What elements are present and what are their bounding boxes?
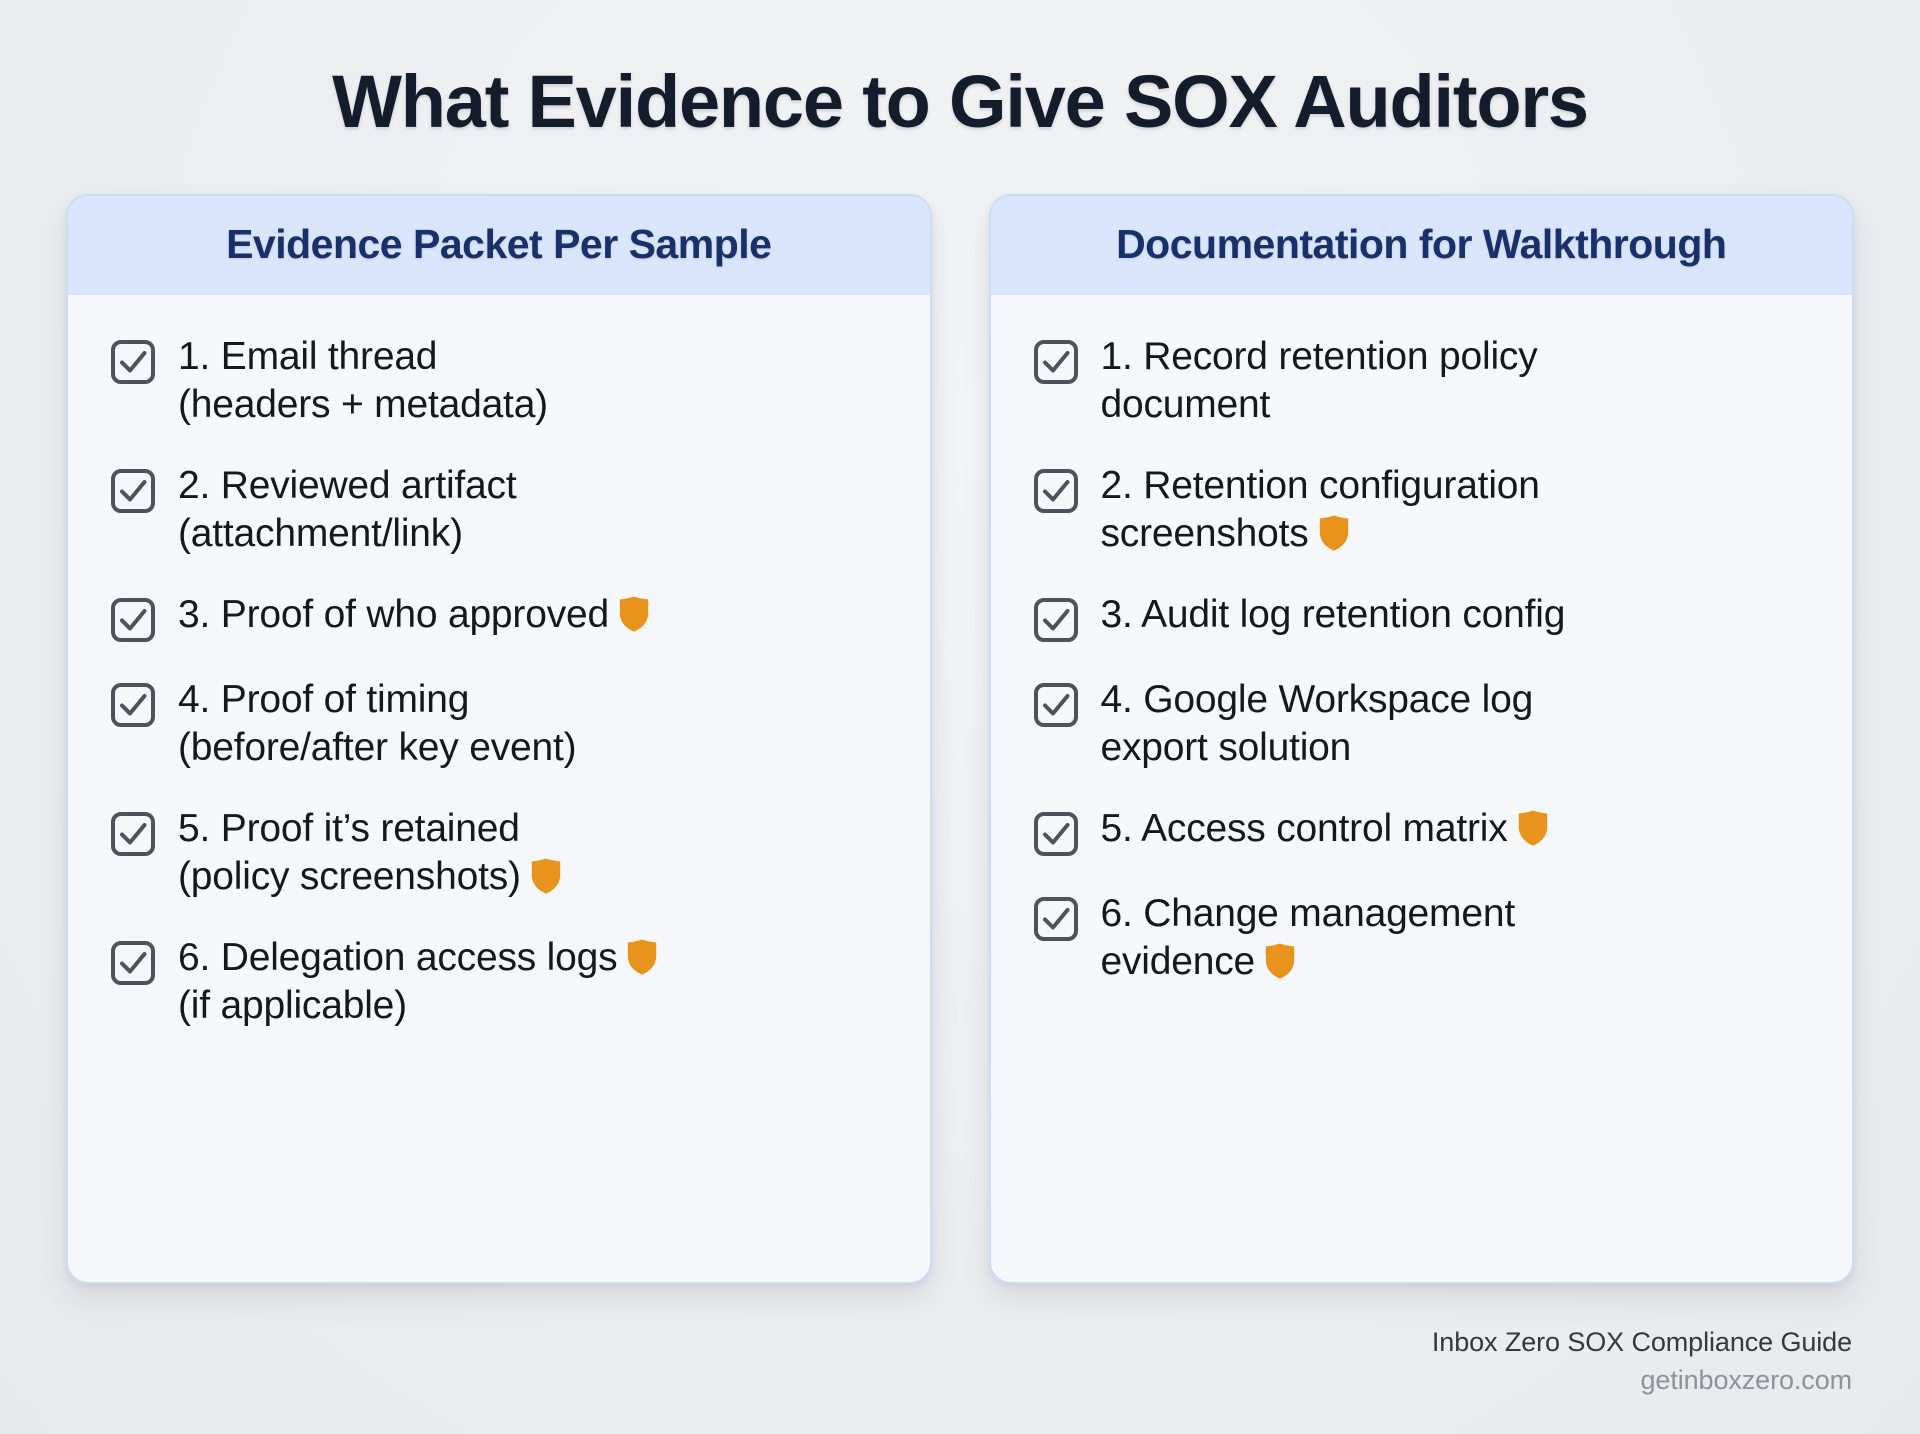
checklist-item-line: (before/after key event) [178, 724, 576, 772]
checkbox-checked-icon[interactable] [1033, 896, 1079, 942]
checklist-card: Documentation for Walkthrough1. Record r… [989, 194, 1855, 1284]
checklist-item-line: evidence [1101, 938, 1515, 986]
checkbox-checked-icon[interactable] [110, 811, 156, 857]
checkbox-checked-icon[interactable] [110, 811, 156, 857]
checklist-item[interactable]: 2. Retention configurationscreenshots [1033, 462, 1819, 558]
shield-icon [1265, 943, 1295, 979]
checklist-item-line: (attachment/link) [178, 510, 517, 558]
shield-icon [531, 858, 561, 894]
checklist-item-line: 6. Delegation access logs [178, 934, 657, 982]
card-header-title: Documentation for Walkthrough [1011, 221, 1833, 268]
checklist-item-text: 2. Reviewed artifact(attachment/link) [178, 462, 517, 558]
shield-icon [627, 939, 657, 975]
footer-brand-label: Inbox Zero SOX Compliance Guide [1432, 1327, 1852, 1358]
checklist-item-line: 4. Google Workspace log [1101, 676, 1534, 724]
checkbox-checked-icon[interactable] [110, 468, 156, 514]
checklist-item[interactable]: 1. Email thread(headers + metadata) [110, 333, 896, 429]
checklist-item-line: 5. Access control matrix [1101, 805, 1548, 853]
checklist-item-line: (policy screenshots) [178, 853, 561, 901]
checklist-item-text: 4. Google Workspace logexport solution [1101, 676, 1534, 772]
checklist-item-line: 3. Audit log retention config [1101, 591, 1566, 639]
checklist-item-line: screenshots [1101, 510, 1540, 558]
checkbox-checked-icon[interactable] [110, 339, 156, 385]
checklist-item[interactable]: 6. Delegation access logs(if applicable) [110, 934, 896, 1030]
checklist-item[interactable]: 4. Google Workspace logexport solution [1033, 676, 1819, 772]
checklist-item[interactable]: 6. Change managementevidence [1033, 890, 1819, 986]
checklist-item-line: document [1101, 381, 1538, 429]
checklist-item-line-text: 5. Access control matrix [1101, 807, 1508, 850]
checklist-item-line: (if applicable) [178, 982, 657, 1030]
shield-icon [1518, 810, 1548, 846]
checkbox-checked-icon[interactable] [110, 682, 156, 728]
footer: Inbox Zero SOX Compliance Guide getinbox… [1432, 1327, 1852, 1396]
checklist-item-text: 5. Proof it’s retained(policy screenshot… [178, 805, 561, 901]
checklist-item[interactable]: 1. Record retention policydocument [1033, 333, 1819, 429]
checklist-item[interactable]: 2. Reviewed artifact(attachment/link) [110, 462, 896, 558]
checklist-item[interactable]: 5. Access control matrix [1033, 805, 1819, 857]
checklist-item-text: 4. Proof of timing(before/after key even… [178, 676, 576, 772]
checkbox-checked-icon[interactable] [110, 597, 156, 643]
checkbox-checked-icon[interactable] [1033, 339, 1079, 385]
card-header-title: Evidence Packet Per Sample [88, 221, 910, 268]
checklist-item-text: 2. Retention configurationscreenshots [1101, 462, 1540, 558]
checklist-item-line: 4. Proof of timing [178, 676, 576, 724]
checklist-item-line-text: evidence [1101, 940, 1256, 983]
checklist-item[interactable]: 5. Proof it’s retained(policy screenshot… [110, 805, 896, 901]
checklist-item-line: 2. Retention configuration [1101, 462, 1540, 510]
checkbox-checked-icon[interactable] [1033, 339, 1079, 385]
checklist-item-text: 5. Access control matrix [1101, 805, 1548, 853]
checkbox-checked-icon[interactable] [1033, 811, 1079, 857]
checklist-item[interactable]: 4. Proof of timing(before/after key even… [110, 676, 896, 772]
checkbox-checked-icon[interactable] [1033, 597, 1079, 643]
checklist-item-line: (headers + metadata) [178, 381, 548, 429]
checklist-item-line-text: screenshots [1101, 512, 1309, 555]
cards-row: Evidence Packet Per Sample1. Email threa… [0, 142, 1920, 1284]
checklist-item[interactable]: 3. Audit log retention config [1033, 591, 1819, 643]
checklist-item-line: 1. Record retention policy [1101, 333, 1538, 381]
checkbox-checked-icon[interactable] [110, 468, 156, 514]
checklist-item-text: 1. Record retention policydocument [1101, 333, 1538, 429]
footer-website-label: getinboxzero.com [1432, 1365, 1852, 1396]
checkbox-checked-icon[interactable] [1033, 682, 1079, 728]
checklist-item-line: 3. Proof of who approved [178, 591, 649, 639]
card-body: 1. Email thread(headers + metadata)2. Re… [68, 295, 930, 1064]
checklist-item-line: 6. Change management [1101, 890, 1515, 938]
checkbox-checked-icon[interactable] [1033, 597, 1079, 643]
checklist-item-text: 1. Email thread(headers + metadata) [178, 333, 548, 429]
checkbox-checked-icon[interactable] [1033, 811, 1079, 857]
checklist-item-line: 2. Reviewed artifact [178, 462, 517, 510]
checkbox-checked-icon[interactable] [1033, 896, 1079, 942]
checklist-item[interactable]: 3. Proof of who approved [110, 591, 896, 643]
shield-icon [619, 596, 649, 632]
checkbox-checked-icon[interactable] [110, 940, 156, 986]
checklist-item-line: export solution [1101, 724, 1534, 772]
shield-icon [1319, 515, 1349, 551]
checkbox-checked-icon[interactable] [110, 940, 156, 986]
card-body: 1. Record retention policydocument2. Ret… [991, 295, 1853, 1020]
checkbox-checked-icon[interactable] [110, 682, 156, 728]
checklist-item-line-text: 3. Proof of who approved [178, 593, 609, 636]
checklist-item-line-text: (policy screenshots) [178, 855, 521, 898]
checkbox-checked-icon[interactable] [110, 597, 156, 643]
checkbox-checked-icon[interactable] [110, 339, 156, 385]
checklist-item-line: 5. Proof it’s retained [178, 805, 561, 853]
checklist-item-text: 6. Change managementevidence [1101, 890, 1515, 986]
infographic-page: What Evidence to Give SOX Auditors Evide… [0, 0, 1920, 1434]
checklist-card: Evidence Packet Per Sample1. Email threa… [66, 194, 932, 1284]
page-title: What Evidence to Give SOX Auditors [0, 0, 1920, 142]
card-header: Documentation for Walkthrough [991, 196, 1853, 295]
checklist-item-text: 6. Delegation access logs(if applicable) [178, 934, 657, 1030]
checklist-item-text: 3. Audit log retention config [1101, 591, 1566, 639]
checkbox-checked-icon[interactable] [1033, 468, 1079, 514]
checklist-item-line: 1. Email thread [178, 333, 548, 381]
checklist-item-line-text: 6. Delegation access logs [178, 936, 617, 979]
checkbox-checked-icon[interactable] [1033, 682, 1079, 728]
checkbox-checked-icon[interactable] [1033, 468, 1079, 514]
checklist-item-text: 3. Proof of who approved [178, 591, 649, 639]
card-header: Evidence Packet Per Sample [68, 196, 930, 295]
